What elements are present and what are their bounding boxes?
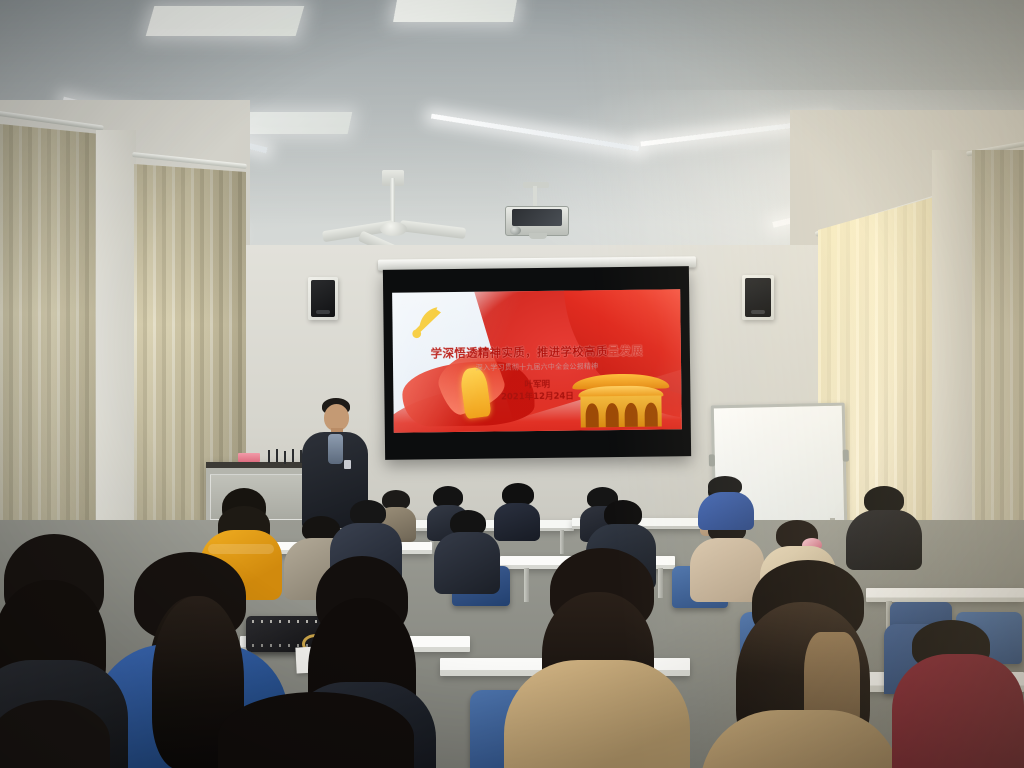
wall-speaker-right bbox=[742, 275, 774, 320]
podium-red-item bbox=[238, 453, 260, 462]
attendee-near-tan-coat bbox=[504, 548, 690, 768]
attendee-near-left-edge bbox=[0, 700, 110, 768]
ceiling-lamp-panel bbox=[393, 0, 517, 22]
presentation-slide: 学深悟透精神实质，推进学校高质量发展 深入学习贯彻十九届六中全会公报精神 叶军明… bbox=[392, 289, 682, 433]
maroon-jacket bbox=[892, 654, 1024, 768]
ceiling-projector bbox=[505, 200, 569, 240]
presenter-lanyard bbox=[344, 460, 351, 469]
classroom-photo: 学深悟透精神实质，推进学校高质量发展 深入学习贯彻十九届六中全会公报精神 叶军明… bbox=[0, 0, 1024, 768]
ceiling-lamp-panel bbox=[146, 6, 305, 36]
attendee-mid-dark-2 bbox=[434, 510, 500, 592]
tan-coat bbox=[504, 660, 690, 768]
attendee-near-right-long-hair bbox=[700, 560, 900, 768]
wall-pier-right bbox=[932, 150, 976, 550]
wall-pier-left bbox=[96, 130, 136, 560]
attendee-black-hoodie bbox=[846, 486, 922, 566]
attendee-near-foreground-head bbox=[218, 692, 414, 768]
curtain-left-far[interactable] bbox=[0, 124, 100, 544]
projection-screen[interactable]: 学深悟透精神实质，推进学校高质量发展 深入学习贯彻十九届六中全会公报精神 叶军明… bbox=[383, 266, 691, 460]
ceiling-lamp-panel bbox=[238, 112, 353, 134]
wall-speaker-left bbox=[308, 277, 338, 320]
attendee-near-maroon bbox=[892, 620, 1024, 768]
curtain-right-far[interactable] bbox=[972, 150, 1024, 550]
attendee-blue-cap bbox=[698, 476, 754, 524]
attendee-front-2 bbox=[494, 483, 540, 535]
hammer-and-sickle-icon bbox=[405, 300, 449, 343]
